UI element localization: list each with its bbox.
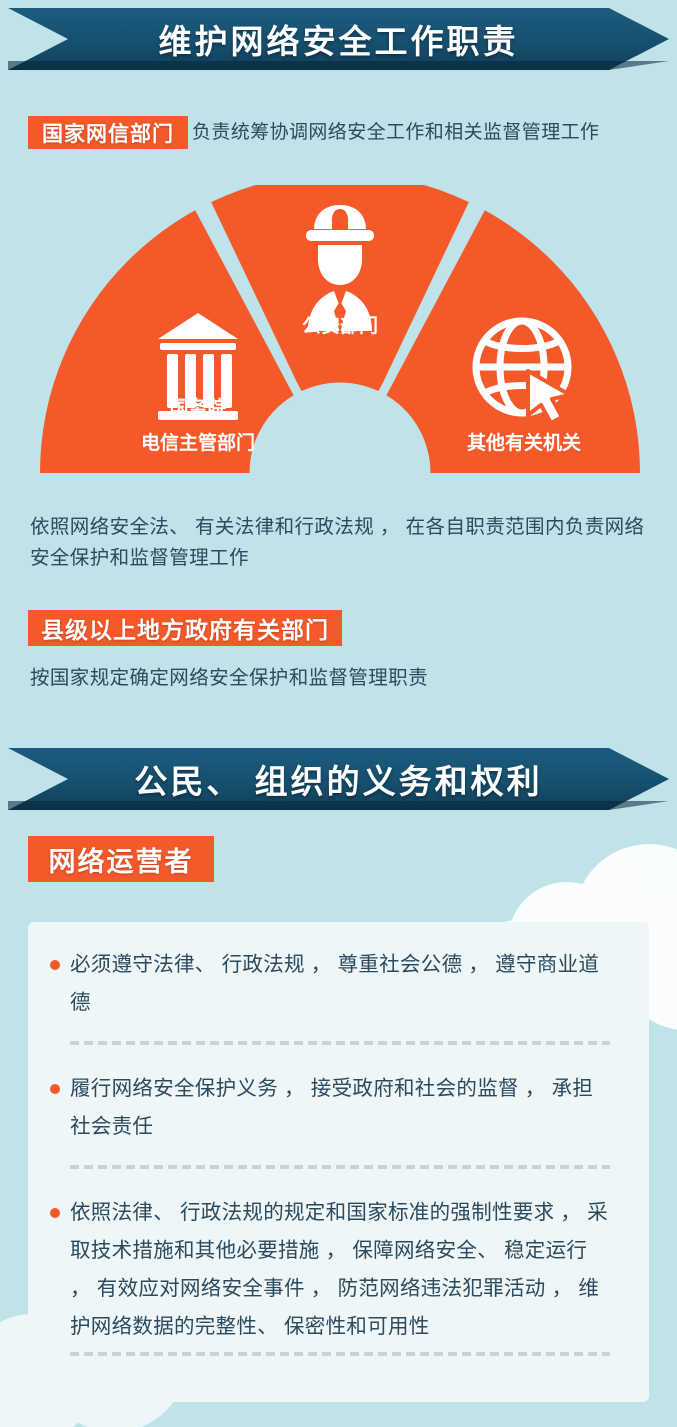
text-cyberspace-department-duty: 负责统筹协调网络安全工作和相关监督管理工作 xyxy=(192,120,672,146)
list-divider xyxy=(70,1352,610,1356)
section-banner-duties: 维护网络安全工作职责 xyxy=(8,8,669,70)
tag-local-government-department: 县级以上地方政府有关部门 xyxy=(28,610,342,646)
obligation-text: 依照法律、 行政法规的规定和国家标准的强制性要求 ， 采取技术措施和其他必要措施… xyxy=(70,1201,608,1338)
section-banner-obligations: 公民、 组织的义务和权利 xyxy=(8,748,669,810)
banner-title-duties: 维护网络安全工作职责 xyxy=(8,8,669,70)
list-divider xyxy=(70,1041,610,1045)
fan-label-public-security: 公安部门 xyxy=(302,314,378,337)
bullet-dot-icon xyxy=(50,960,60,970)
text-local-government-duty: 按国家规定确定网络安全保护和监督管理职责 xyxy=(30,663,655,694)
obligations-card: 必须遵守法律、 行政法规 ， 尊重社会公德 ， 遵守商业道德 履行网络安全保护义… xyxy=(28,922,649,1402)
obligation-list-item: 必须遵守法律、 行政法规 ， 尊重社会公德 ， 遵守商业道德 xyxy=(70,946,610,1022)
banner-title-obligations: 公民、 组织的义务和权利 xyxy=(8,748,669,810)
text-joint-duty: 依照网络安全法、 有关法律和行政法规 ， 在各自职责范围内负责网络安全保护和监督… xyxy=(30,512,655,574)
obligation-list-item: 履行网络安全保护义务 ， 接受政府和社会的监督 ， 承担社会责任 xyxy=(70,1070,610,1146)
bullet-dot-icon xyxy=(50,1208,60,1218)
fan-label-other-authorities: 其他有关机关 xyxy=(467,431,581,454)
fan-diagram-departments: 国务院 电信主管部门 公安部门 其他有关机关 xyxy=(30,185,650,485)
fan-label-telecom-line2: 电信主管部门 xyxy=(141,431,255,454)
bullet-dot-icon xyxy=(50,1084,60,1094)
obligation-list-item: 依照法律、 行政法规的规定和国家标准的强制性要求 ， 采取技术措施和其他必要措施… xyxy=(70,1194,610,1346)
infographic-page: 维护网络安全工作职责 国家网信部门 负责统筹协调网络安全工作和相关监督管理工作 xyxy=(0,0,677,1427)
obligation-text: 履行网络安全保护义务 ， 接受政府和社会的监督 ， 承担社会责任 xyxy=(70,1077,593,1138)
tag-cyberspace-department: 国家网信部门 xyxy=(28,116,188,149)
fan-label-telecom-line1: 国务院 xyxy=(169,396,226,419)
obligation-text: 必须遵守法律、 行政法规 ， 尊重社会公德 ， 遵守商业道德 xyxy=(70,953,599,1014)
tag-network-operator: 网络运营者 xyxy=(28,836,214,882)
list-divider xyxy=(70,1165,610,1169)
